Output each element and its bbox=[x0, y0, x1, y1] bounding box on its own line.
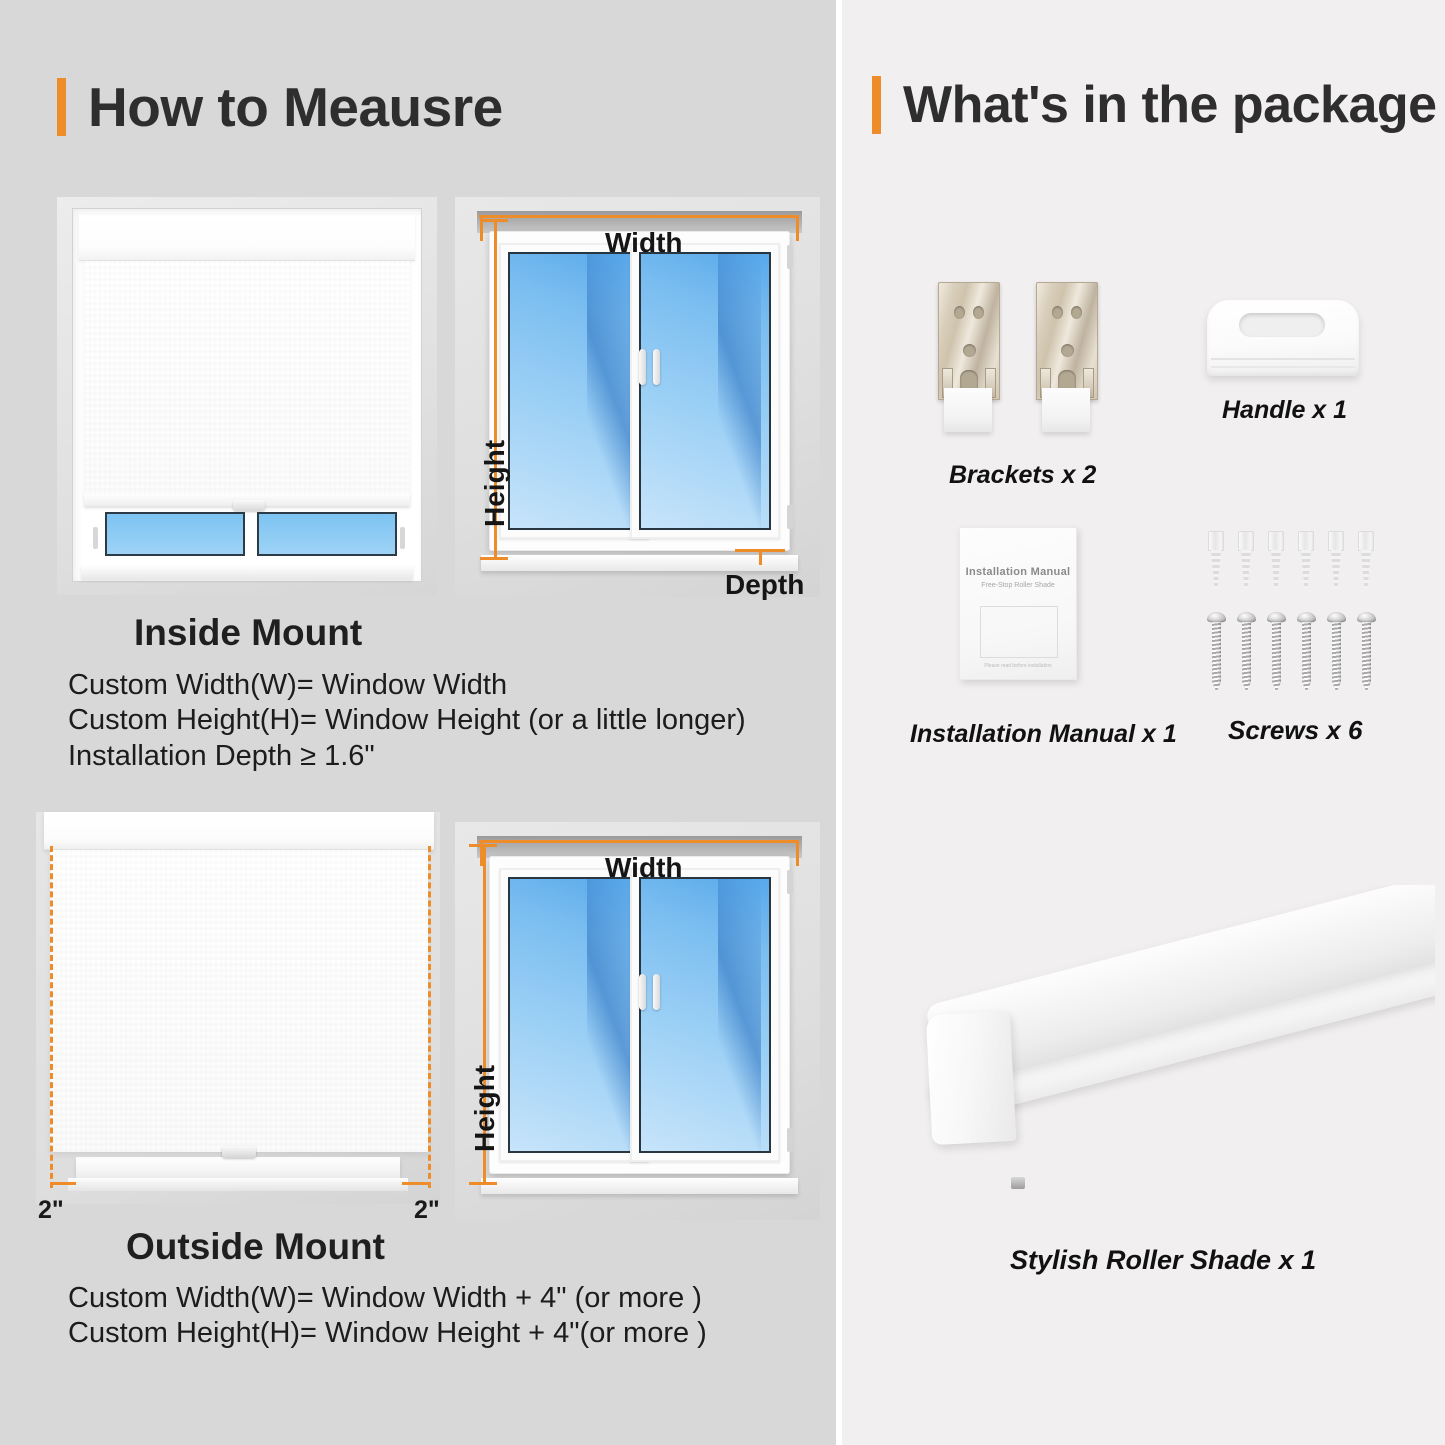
screw-shaft bbox=[1212, 622, 1221, 692]
bracket-hole-3 bbox=[1061, 344, 1074, 357]
handle-label: Handle x 1 bbox=[1222, 396, 1347, 425]
anchor-head bbox=[1238, 531, 1254, 551]
label-depth: Depth bbox=[725, 569, 804, 601]
handle-part bbox=[1207, 300, 1359, 376]
infographic-page: How to Meausre What's in the package bbox=[0, 0, 1445, 1445]
anchor-head bbox=[1268, 531, 1284, 551]
page-title-right: What's in the package bbox=[903, 75, 1437, 135]
package-title: What's in the package bbox=[872, 75, 1437, 135]
measure-diagram-inside: Width Height Depth bbox=[455, 197, 820, 597]
screw-3 bbox=[1267, 612, 1286, 692]
screw-head bbox=[1327, 612, 1346, 623]
wall-anchor-5 bbox=[1326, 531, 1346, 589]
window-sash-left bbox=[499, 868, 649, 1162]
anchor-body bbox=[1271, 550, 1281, 589]
overhang-label-left: 2" bbox=[38, 1196, 64, 1225]
window-hinge-top bbox=[787, 870, 793, 894]
shade-fabric bbox=[84, 261, 410, 497]
installation-manual-part: Installation Manual Free-Stop Roller Sha… bbox=[959, 527, 1077, 680]
width-measure-line bbox=[479, 215, 799, 218]
roller-shade-label: Stylish Roller Shade x 1 bbox=[1010, 1245, 1316, 1276]
window-glass-right bbox=[257, 512, 397, 556]
screw-shaft bbox=[1362, 622, 1371, 692]
screw-shaft bbox=[1242, 622, 1251, 692]
shade-mounting-pin bbox=[1011, 1177, 1025, 1189]
window-glass-left bbox=[508, 877, 640, 1153]
screw-shaft bbox=[1272, 622, 1281, 692]
bracket-hole-2 bbox=[1071, 306, 1082, 319]
anchor-body bbox=[1361, 550, 1371, 589]
height-tick-top bbox=[480, 219, 508, 222]
outside-mount-heading: Outside Mount bbox=[126, 1226, 385, 1268]
window-hinge-bottom bbox=[787, 1128, 793, 1152]
width-tick-right bbox=[796, 215, 799, 241]
window-glass-left bbox=[105, 512, 245, 556]
depth-tick bbox=[759, 549, 762, 565]
screw-head bbox=[1267, 612, 1286, 623]
window-sash-right bbox=[630, 868, 780, 1162]
overhang-guide-right bbox=[428, 846, 431, 1188]
window-glass-left bbox=[508, 252, 640, 530]
anchor-body bbox=[1211, 550, 1221, 589]
title-accent-bar-right bbox=[872, 76, 881, 134]
outside-line-2: Custom Height(H)= Window Height + 4"(or … bbox=[68, 1316, 707, 1351]
wall-anchor-1 bbox=[1206, 531, 1226, 589]
overhang-label-right: 2" bbox=[414, 1196, 440, 1225]
shade-pull-handle bbox=[222, 1146, 256, 1158]
manual-cover-footer: Please read before installation bbox=[960, 663, 1076, 669]
page-title-left: How to Meausre bbox=[88, 75, 503, 139]
inside-line-1: Custom Width(W)= Window Width bbox=[68, 668, 746, 703]
wall-anchor-6 bbox=[1356, 531, 1376, 589]
shade-fabric bbox=[50, 850, 428, 1152]
shade-headrail bbox=[44, 812, 434, 850]
brackets-label: Brackets x 2 bbox=[949, 461, 1096, 490]
label-height: Height bbox=[479, 440, 511, 527]
inside-line-3: Installation Depth ≥ 1.6" bbox=[68, 739, 746, 774]
height-tick-bottom bbox=[469, 1182, 497, 1185]
width-tick-right bbox=[796, 840, 799, 866]
bracket-hole-1 bbox=[954, 306, 965, 319]
shade-headrail bbox=[79, 215, 415, 261]
manual-cover-title: Installation Manual bbox=[960, 566, 1076, 578]
bracket-hole-3 bbox=[963, 344, 976, 357]
measure-diagram-outside: Width Height bbox=[455, 822, 820, 1220]
screw-5 bbox=[1327, 612, 1346, 692]
screws-label: Screws x 6 bbox=[1228, 715, 1362, 746]
label-width: Width bbox=[605, 227, 683, 259]
anchor-head bbox=[1208, 531, 1224, 551]
shade-pull-handle bbox=[233, 500, 265, 511]
height-tick-bottom bbox=[480, 557, 508, 560]
screw-shaft bbox=[1332, 622, 1341, 692]
overhang-arrow-right bbox=[402, 1182, 428, 1194]
label-width: Width bbox=[605, 852, 683, 884]
overhang-arrow-left bbox=[50, 1182, 76, 1194]
window-handle-right bbox=[653, 974, 660, 1010]
window-hinge-right bbox=[400, 527, 405, 549]
anchor-head bbox=[1328, 531, 1344, 551]
window-hinge-left bbox=[93, 527, 98, 549]
wall-anchor-3 bbox=[1266, 531, 1286, 589]
window-frame bbox=[489, 856, 790, 1174]
inside-mount-illustration bbox=[57, 197, 437, 595]
window-handle-right bbox=[653, 349, 660, 385]
wall-anchor-2 bbox=[1236, 531, 1256, 589]
bracket-plastic-base bbox=[944, 388, 992, 432]
screw-6 bbox=[1357, 612, 1376, 692]
window-handle-left bbox=[639, 974, 646, 1010]
shade-end-cap bbox=[926, 1011, 1017, 1145]
manual-cover-subtitle: Free-Stop Roller Shade bbox=[960, 582, 1076, 589]
how-to-measure-title: How to Meausre bbox=[57, 75, 503, 139]
bracket-hole-1 bbox=[1052, 306, 1063, 319]
screw-head bbox=[1207, 612, 1226, 623]
window-sash-right bbox=[630, 243, 780, 539]
outside-mount-instructions: Custom Width(W)= Window Width + 4" (or m… bbox=[68, 1281, 707, 1352]
label-height: Height bbox=[469, 1065, 501, 1152]
screw-1 bbox=[1207, 612, 1226, 692]
manual-label: Installation Manual x 1 bbox=[910, 720, 1177, 749]
overhang-guide-left bbox=[50, 846, 53, 1188]
screw-head bbox=[1237, 612, 1256, 623]
window-sill bbox=[481, 1178, 798, 1194]
bracket-plastic-base bbox=[1042, 388, 1090, 432]
window-hinge-top bbox=[787, 245, 793, 269]
inside-mount-heading: Inside Mount bbox=[134, 612, 362, 654]
window-hinge-bottom bbox=[787, 505, 793, 529]
screw-shaft bbox=[1302, 622, 1311, 692]
outside-mount-illustration bbox=[36, 812, 440, 1204]
screw-head bbox=[1297, 612, 1316, 623]
screw-head bbox=[1357, 612, 1376, 623]
window-glass-right bbox=[639, 877, 771, 1153]
height-tick-top bbox=[469, 844, 497, 847]
window-sash-left bbox=[499, 243, 649, 539]
anchor-head bbox=[1298, 531, 1314, 551]
roller-shade-product-image bbox=[905, 885, 1435, 1215]
bracket-part-2 bbox=[1036, 282, 1098, 432]
outside-line-1: Custom Width(W)= Window Width + 4" (or m… bbox=[68, 1281, 707, 1316]
screw-4 bbox=[1297, 612, 1316, 692]
anchor-body bbox=[1331, 550, 1341, 589]
screw-2 bbox=[1237, 612, 1256, 692]
anchor-head bbox=[1358, 531, 1374, 551]
title-accent-bar bbox=[57, 78, 66, 136]
window-sill bbox=[81, 565, 413, 579]
window-glass-right bbox=[639, 252, 771, 530]
window-handle-left bbox=[639, 349, 646, 385]
window-frame bbox=[489, 231, 790, 551]
manual-cover-illustration bbox=[980, 606, 1058, 658]
inside-mount-instructions: Custom Width(W)= Window Width Custom Hei… bbox=[68, 668, 746, 774]
width-measure-line bbox=[479, 840, 799, 843]
bracket-hole-2 bbox=[973, 306, 984, 319]
bracket-part-1 bbox=[938, 282, 1000, 432]
window-sill-apron bbox=[68, 1178, 408, 1191]
wall-anchor-4 bbox=[1296, 531, 1316, 589]
anchor-body bbox=[1241, 550, 1251, 589]
inside-line-2: Custom Height(H)= Window Height (or a li… bbox=[68, 703, 746, 738]
anchor-body bbox=[1301, 550, 1311, 589]
